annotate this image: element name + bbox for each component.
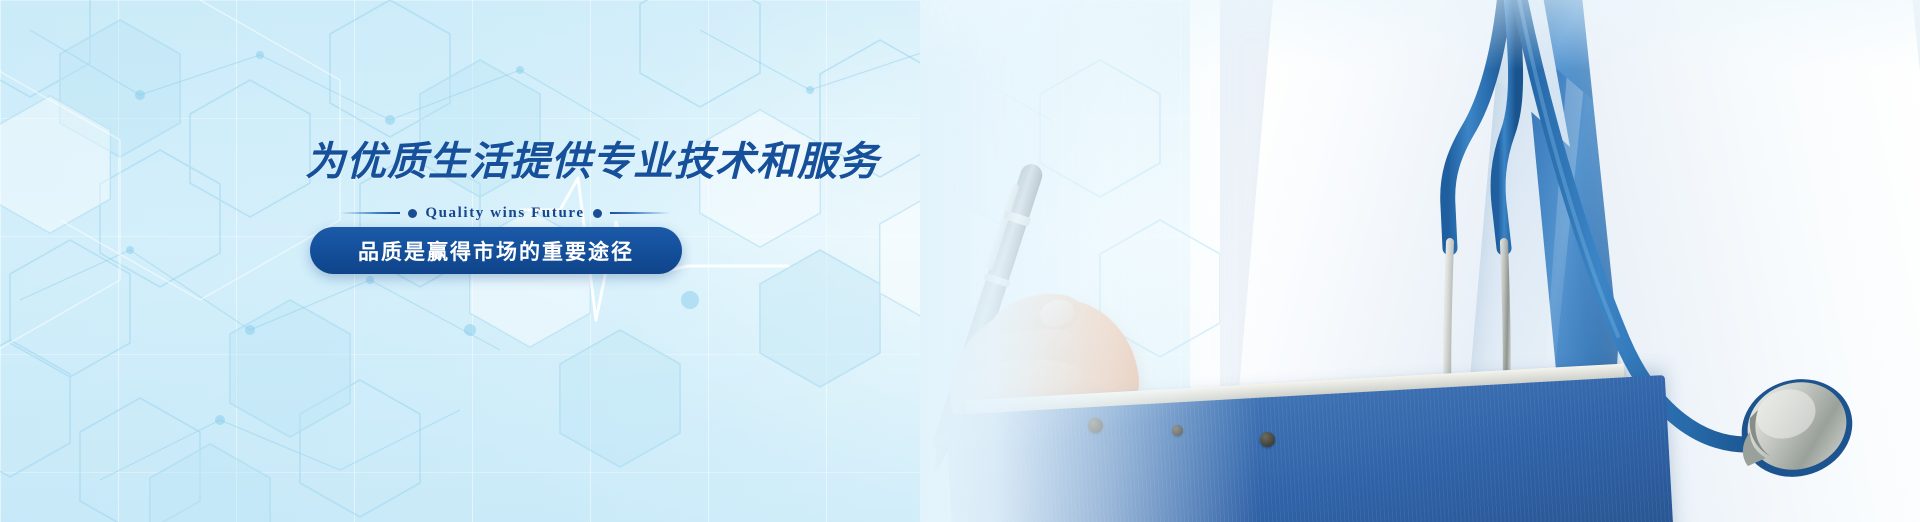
tagline-rule-right [610,212,670,214]
tagline-dot-right [593,209,602,218]
clipboard-ring [1260,432,1275,447]
cta-button-label: 品质是赢得市场的重要途径 [358,236,634,266]
hero-banner: 为优质生活提供专业技术和服务 Quality wins Future 品质是赢得… [0,0,1920,522]
tagline-rule-left [340,212,400,214]
tagline-dot-left [408,209,417,218]
photo-top-fade [920,0,1920,70]
banner-headline: 为优质生活提供专业技术和服务 [305,129,879,187]
banner-content: 为优质生活提供专业技术和服务 Quality wins Future 品质是赢得… [0,0,1000,522]
cta-button[interactable]: 品质是赢得市场的重要途径 [310,227,682,274]
banner-tagline: Quality wins Future [425,205,584,222]
tagline-row: Quality wins Future [340,203,670,223]
doctor-photo [920,0,1920,522]
